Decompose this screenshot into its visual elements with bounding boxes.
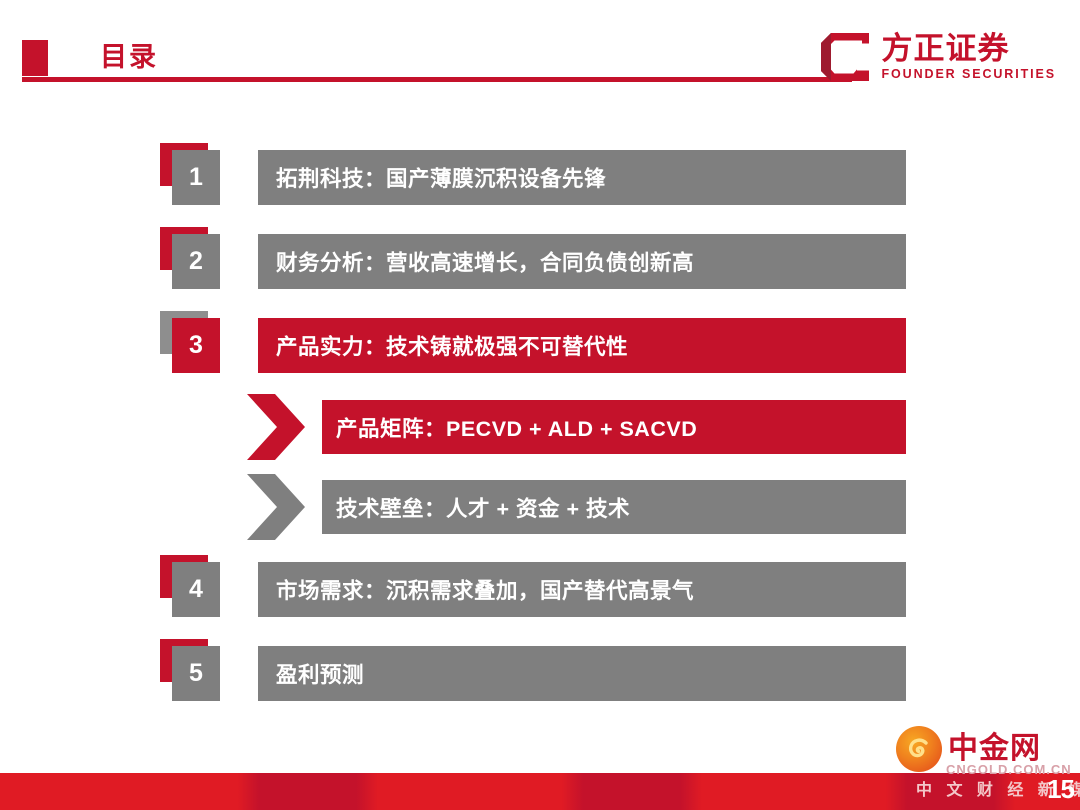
toc-subitem-1[interactable]: 产品矩阵：PECVD + ALD + SACVD [0, 387, 1080, 467]
toc-item-bar[interactable]: 市场需求：沉积需求叠加，国产替代高景气 [258, 562, 906, 617]
chevron-right-icon [245, 472, 307, 542]
toc-number-badge: 2 [160, 227, 222, 289]
table-of-contents: 1 拓荆科技：国产薄膜沉积设备先锋 2 财务分析：营收高速增长，合同负债创新高 … [0, 135, 1080, 715]
badge-number: 4 [172, 562, 220, 617]
toc-item-2[interactable]: 2 财务分析：营收高速增长，合同负债创新高 [0, 219, 1080, 303]
toc-item-5[interactable]: 5 盈利预测 [0, 631, 1080, 715]
toc-item-bar[interactable]: 财务分析：营收高速增长，合同负债创新高 [258, 234, 906, 289]
toc-item-label: 市场需求：沉积需求叠加，国产替代高景气 [258, 574, 694, 605]
watermark-name: 中金网 [948, 732, 1041, 766]
toc-item-label: 产品实力：技术铸就极强不可替代性 [258, 330, 628, 361]
company-logo: 方正证券 FOUNDER SECURITIES [818, 30, 1057, 84]
header-accent-block [22, 40, 48, 76]
header-divider [22, 77, 852, 82]
toc-subitem-bar[interactable]: 产品矩阵：PECVD + ALD + SACVD [322, 400, 906, 454]
slide: 目录 方正证券 FOUNDER SECURITIES 1 [0, 0, 1080, 810]
badge-number: 2 [172, 234, 220, 289]
watermark-brand: 中金网 [896, 726, 1041, 772]
toc-number-badge: 3 [160, 311, 222, 373]
toc-subitem-bar[interactable]: 技术壁垒：人才 + 资金 + 技术 [322, 480, 906, 534]
page-title: 目录 [100, 38, 158, 76]
slide-header: 目录 方正证券 FOUNDER SECURITIES [0, 0, 1080, 108]
swirl-circle-icon [896, 726, 942, 772]
badge-number: 5 [172, 646, 220, 701]
hexagon-frame-icon [818, 30, 872, 84]
badge-number: 1 [172, 150, 220, 205]
badge-number: 3 [172, 318, 220, 373]
page-number: 15 [1047, 776, 1074, 802]
toc-item-1[interactable]: 1 拓荆科技：国产薄膜沉积设备先锋 [0, 135, 1080, 219]
toc-number-badge: 1 [160, 143, 222, 205]
toc-item-label: 财务分析：营收高速增长，合同负债创新高 [258, 246, 694, 277]
toc-item-3[interactable]: 3 产品实力：技术铸就极强不可替代性 [0, 303, 1080, 387]
toc-item-label: 拓荆科技：国产薄膜沉积设备先锋 [258, 162, 606, 193]
toc-item-bar[interactable]: 盈利预测 [258, 646, 906, 701]
toc-subitem-2[interactable]: 技术壁垒：人才 + 资金 + 技术 [0, 467, 1080, 547]
toc-item-4[interactable]: 4 市场需求：沉积需求叠加，国产替代高景气 [0, 547, 1080, 631]
toc-subitem-label: 技术壁垒：人才 + 资金 + 技术 [322, 492, 630, 523]
logo-name-en: FOUNDER SECURITIES [882, 66, 1057, 82]
toc-item-label: 盈利预测 [258, 658, 364, 689]
toc-number-badge: 5 [160, 639, 222, 701]
toc-item-bar[interactable]: 拓荆科技：国产薄膜沉积设备先锋 [258, 150, 906, 205]
footer-bar [0, 773, 1080, 810]
chevron-right-icon [245, 392, 307, 462]
toc-number-badge: 4 [160, 555, 222, 617]
logo-name-cn: 方正证券 [882, 32, 1057, 66]
logo-text: 方正证券 FOUNDER SECURITIES [882, 32, 1057, 82]
toc-item-bar[interactable]: 产品实力：技术铸就极强不可替代性 [258, 318, 906, 373]
toc-subitem-label: 产品矩阵：PECVD + ALD + SACVD [322, 412, 697, 443]
